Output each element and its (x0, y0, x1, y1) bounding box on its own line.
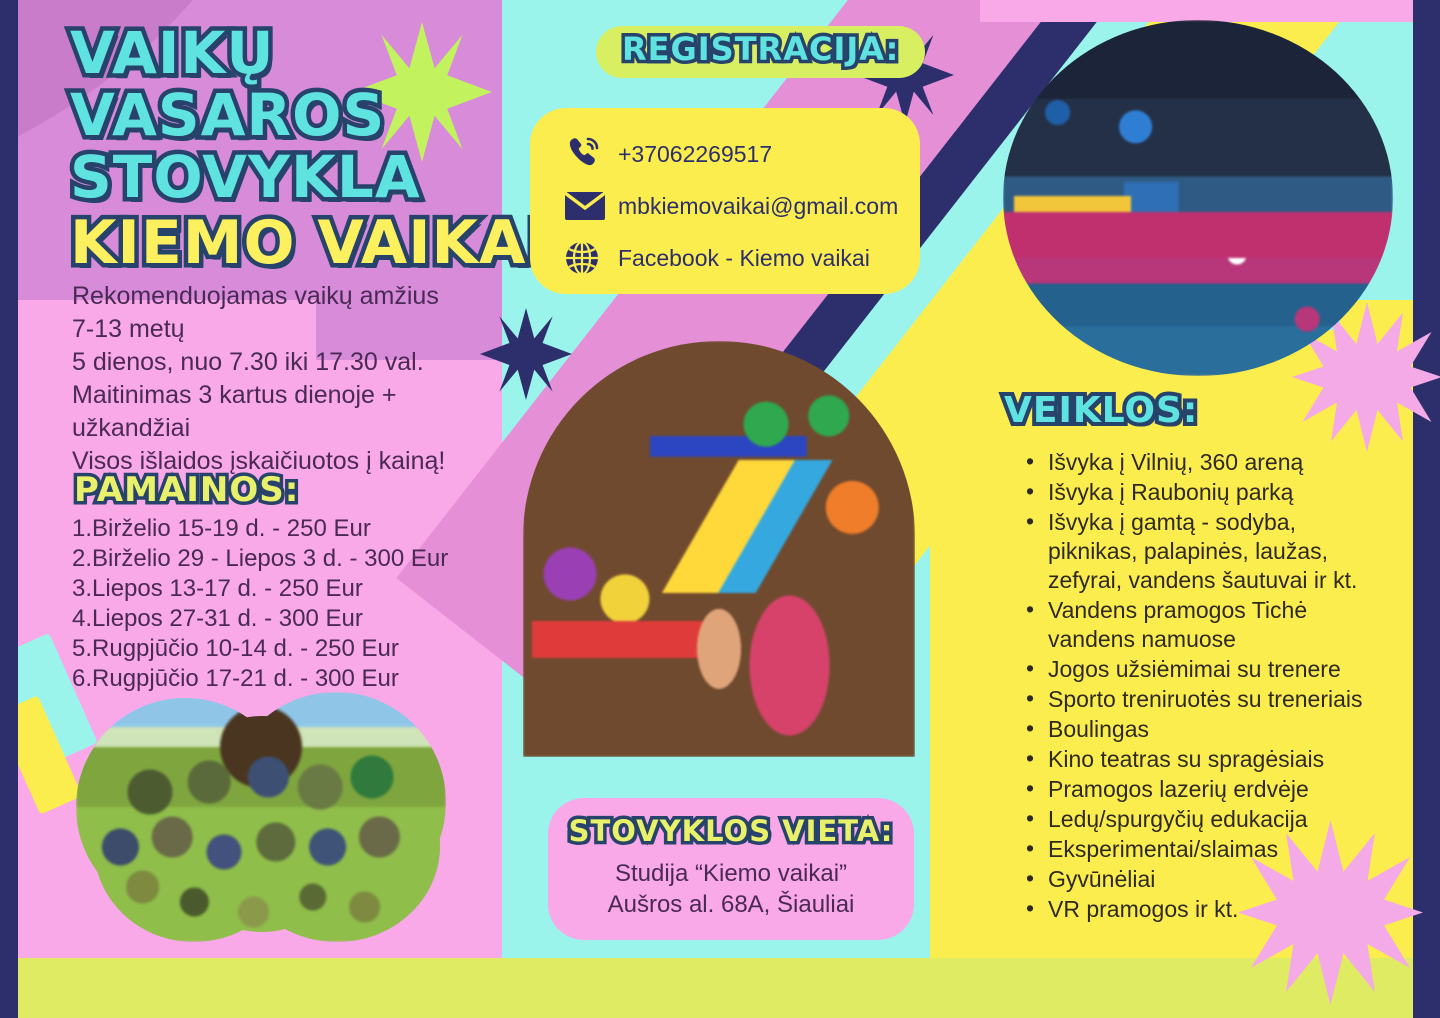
address-line: Aušros al. 68A, Šiauliai (548, 889, 914, 920)
background-navy-right-edge (1413, 0, 1440, 1018)
poster-canvas: VAIKŲ VASAROS STOVYKLA KIEMO VAIKAI Reko… (0, 0, 1440, 1018)
activity-item: Išvyka į gamtą - sodyba, piknikas, palap… (1022, 508, 1402, 595)
activity-item: VR pramogos ir kt. (1022, 895, 1402, 924)
intro-line: užkandžiai (72, 412, 502, 445)
poster-title: VAIKŲ VASAROS STOVYKLA KIEMO VAIKAI (70, 22, 500, 274)
registration-email-row[interactable]: mbkiemovaikai@gmail.com (564, 180, 920, 232)
water-playground-photo (523, 341, 915, 757)
camp-location-card: STOVYKLOS VIETA: Studija “Kiemo vaikai” … (548, 798, 914, 940)
shift-item: 3.Liepos 13-17 d. - 250 Eur (72, 574, 512, 604)
camp-children-group-photo (76, 692, 446, 942)
title-line-1: VAIKŲ (70, 22, 500, 84)
trampoline-park-360-arena-photo (1003, 20, 1393, 376)
intro-line: Maitinimas 3 kartus dienoje + (72, 379, 502, 412)
activity-item: Išvyka į Vilnių, 360 areną (1022, 448, 1402, 477)
background-pink-top-right-band (980, 0, 1440, 22)
intro-line: Rekomenduojamas vaikų amžius (72, 280, 502, 313)
registration-phone: +37062269517 (618, 141, 772, 168)
registration-social: Facebook - Kiemo vaikai (618, 245, 870, 272)
activity-item: Ledų/spurgyčių edukacija (1022, 805, 1402, 834)
activity-item: Išvyka į Raubonių parką (1022, 478, 1402, 507)
camp-location-address: Studija “Kiemo vaikai” Aušros al. 68A, Š… (548, 858, 914, 920)
shift-item: 2.Birželio 29 - Liepos 3 d. - 300 Eur (72, 544, 512, 574)
activities-list: Išvyka į Vilnių, 360 areną Išvyka į Raub… (1022, 448, 1402, 925)
registration-heading-pill: REGISTRACIJA: (596, 26, 925, 78)
background-green-bottom-band (16, 958, 1416, 1018)
title-line-3: STOVYKLA (70, 146, 500, 208)
registration-phone-row[interactable]: +37062269517 (564, 128, 920, 180)
background-navy-left-edge (0, 0, 18, 1018)
shift-item: 4.Liepos 27-31 d. - 300 Eur (72, 604, 512, 634)
activity-item: Boulingas (1022, 715, 1402, 744)
activity-item: Pramogos lazerių erdvėje (1022, 775, 1402, 804)
registration-heading: REGISTRACIJA: (622, 30, 899, 68)
intro-line: 7-13 metų (72, 313, 502, 346)
activity-item: Gyvūnėliai (1022, 865, 1402, 894)
intro-line: 5 dienos, nuo 7.30 iki 17.30 val. (72, 346, 502, 379)
camp-location-heading: STOVYKLOS VIETA: (548, 814, 914, 848)
registration-email: mbkiemovaikai@gmail.com (618, 193, 898, 220)
camp-intro-text: Rekomenduojamas vaikų amžius 7-13 metų 5… (72, 280, 502, 478)
phone-ringing-icon (564, 135, 618, 173)
registration-card: +37062269517 mbkiemovaikai@gmail.com (530, 108, 920, 294)
registration-social-row[interactable]: Facebook - Kiemo vaikai (564, 232, 920, 284)
activity-item: Jogos užsiėmimai su trenere (1022, 655, 1402, 684)
activity-item: Eksperimentai/slaimas (1022, 835, 1402, 864)
activity-item: Sporto treniruotės su treneriais (1022, 685, 1402, 714)
shift-item: 1.Birželio 15-19 d. - 250 Eur (72, 514, 512, 544)
activity-item: Vandens pramogos Tichė vandens namuose (1022, 596, 1402, 654)
shift-item: 6.Rugpjūčio 17-21 d. - 300 Eur (72, 664, 512, 694)
title-camp-name: KIEMO VAIKAI (70, 212, 500, 274)
globe-icon (564, 240, 618, 276)
activities-heading: VEIKLOS: (1004, 390, 1198, 431)
shifts-heading: PAMAINOS: (74, 470, 299, 510)
trampoline-park-image (1003, 20, 1393, 376)
shifts-list: 1.Birželio 15-19 d. - 250 Eur 2.Birželio… (72, 514, 512, 694)
address-line: Studija “Kiemo vaikai” (548, 858, 914, 889)
water-playground-image (523, 341, 915, 757)
activity-item: Kino teatras su spragėsiais (1022, 745, 1402, 774)
title-line-2: VASAROS (70, 84, 500, 146)
shift-item: 5.Rugpjūčio 10-14 d. - 250 Eur (72, 634, 512, 664)
envelope-icon (564, 190, 618, 222)
